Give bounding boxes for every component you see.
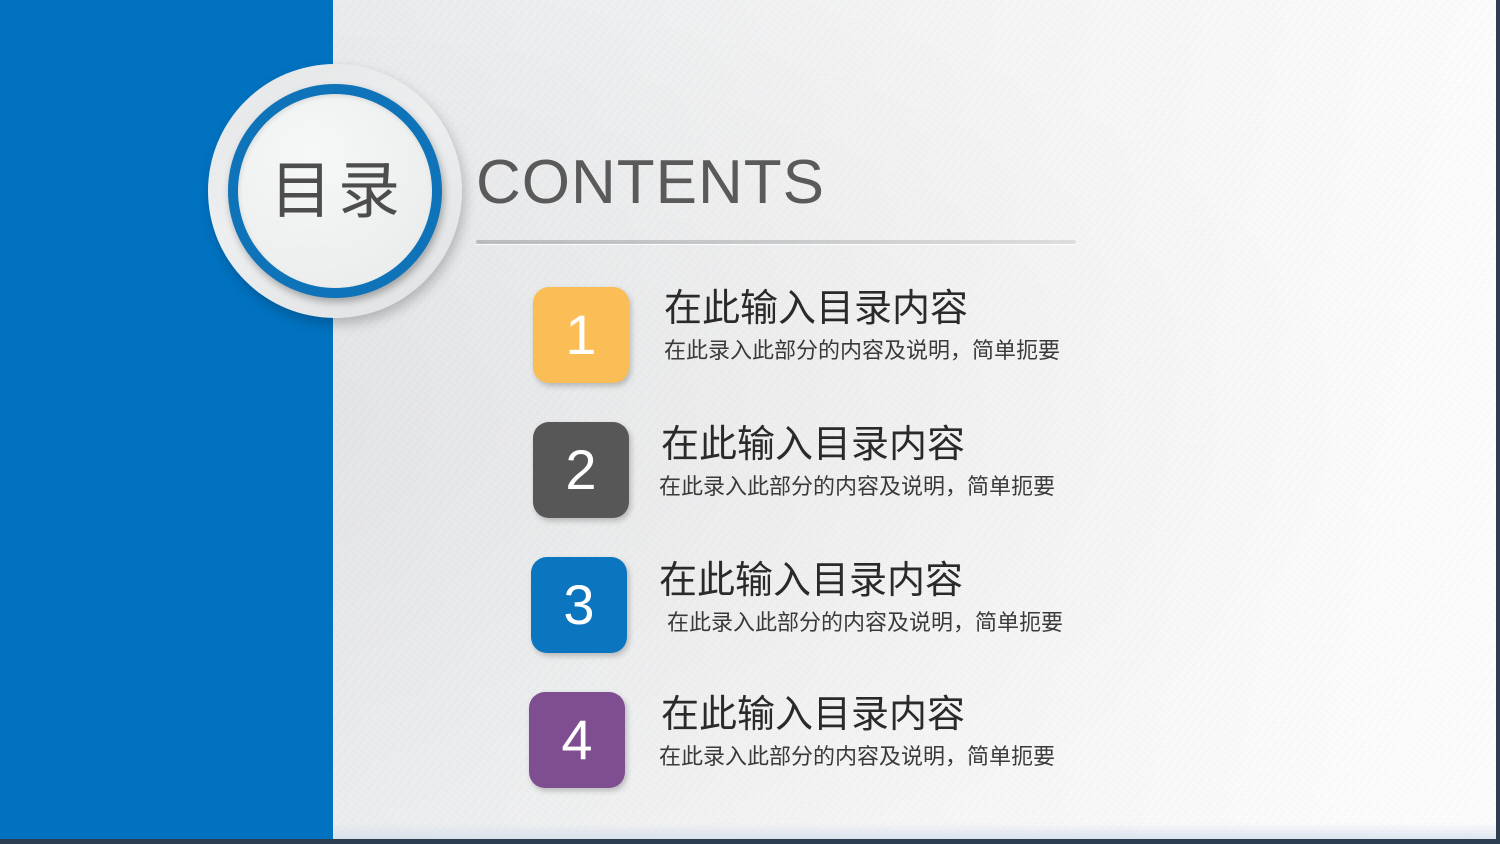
list-item[interactable]: 3 在此输入目录内容 在此录入此部分的内容及说明，简单扼要 xyxy=(533,557,1253,692)
contents-text-block-1: 在此输入目录内容 在此录入此部分的内容及说明，简单扼要 xyxy=(664,286,1244,366)
contents-item-subtitle: 在此录入此部分的内容及说明，简单扼要 xyxy=(664,338,1244,367)
right-accent-rule xyxy=(1496,0,1500,844)
contents-item-subtitle: 在此录入此部分的内容及说明，简单扼要 xyxy=(667,610,1239,639)
contents-number-badge-4: 4 xyxy=(529,692,625,788)
bottom-accent-rule xyxy=(0,839,1500,844)
contents-text-block-3: 在此输入目录内容 在此录入此部分的内容及说明，简单扼要 xyxy=(659,558,1239,638)
contents-item-title: 在此输入目录内容 xyxy=(659,558,1239,604)
circle-badge-label: 目录 xyxy=(264,160,406,222)
contents-list: 1 在此输入目录内容 在此录入此部分的内容及说明，简单扼要 2 在此输入目录内容… xyxy=(533,287,1253,827)
contents-circle-badge: 目录 xyxy=(208,64,462,318)
contents-number-badge-1: 1 xyxy=(533,287,629,383)
page-title: CONTENTS xyxy=(476,152,825,214)
list-item[interactable]: 2 在此输入目录内容 在此录入此部分的内容及说明，简单扼要 xyxy=(533,422,1253,557)
contents-item-title: 在此输入目录内容 xyxy=(661,422,1241,468)
list-item[interactable]: 1 在此输入目录内容 在此录入此部分的内容及说明，简单扼要 xyxy=(533,287,1253,422)
contents-item-title: 在此输入目录内容 xyxy=(661,692,1241,738)
contents-text-block-2: 在此输入目录内容 在此录入此部分的内容及说明，简单扼要 xyxy=(661,422,1241,502)
slide-canvas: 目录 CONTENTS 1 在此输入目录内容 在此录入此部分的内容及说明，简单扼… xyxy=(0,0,1500,844)
list-item[interactable]: 4 在此输入目录内容 在此录入此部分的内容及说明，简单扼要 xyxy=(533,692,1253,827)
circle-inner-disc: 目录 xyxy=(238,94,432,288)
contents-text-block-4: 在此输入目录内容 在此录入此部分的内容及说明，简单扼要 xyxy=(661,692,1241,772)
contents-item-title: 在此输入目录内容 xyxy=(664,286,1244,332)
contents-number-badge-2: 2 xyxy=(533,422,629,518)
contents-item-subtitle: 在此录入此部分的内容及说明，简单扼要 xyxy=(659,474,1241,503)
contents-number-badge-3: 3 xyxy=(531,557,627,653)
title-divider xyxy=(476,240,1076,244)
contents-item-subtitle: 在此录入此部分的内容及说明，简单扼要 xyxy=(659,744,1241,773)
